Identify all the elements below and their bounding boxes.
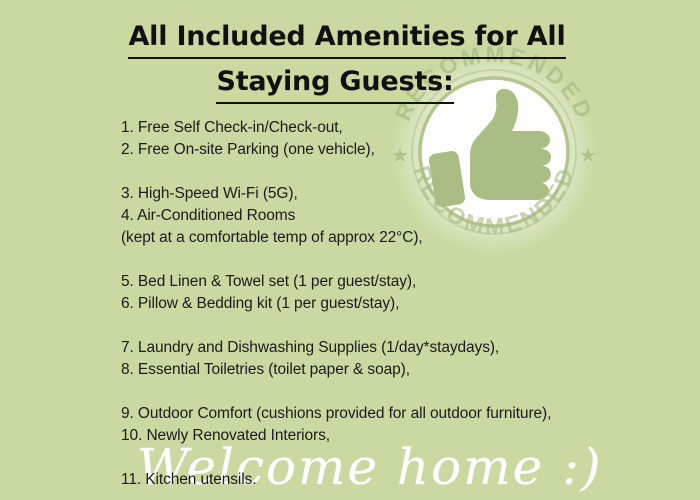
- page-title-line-2: Staying Guests:: [216, 63, 453, 104]
- amenity-line: 10. Newly Renovated Interiors,: [121, 425, 551, 447]
- amenity-line: 6. Pillow & Bedding kit (1 per guest/sta…: [121, 293, 551, 315]
- page-title-line-1: All Included Amenities for All: [128, 18, 565, 59]
- amenities-poster: RECOMMENDED RECOMMENDED ★ ★ All Included…: [0, 0, 700, 500]
- amenity-line: 5. Bed Linen & Towel set (1 per guest/st…: [121, 271, 551, 293]
- amenity-line: 7. Laundry and Dishwashing Supplies (1/d…: [121, 337, 551, 359]
- amenity-line: 3. High-Speed Wi-Fi (5G),: [121, 183, 551, 205]
- amenity-line: 11. Kitchen utensils.: [121, 469, 551, 491]
- badge-star-right-icon: ★: [579, 145, 597, 167]
- amenity-line: 8. Essential Toiletries (toilet paper & …: [121, 359, 551, 381]
- amenities-list: 1. Free Self Check-in/Check-out,2. Free …: [121, 117, 551, 491]
- page-title: All Included Amenities for All Staying G…: [0, 18, 700, 104]
- amenity-line: 2. Free On-site Parking (one vehicle),: [121, 139, 551, 161]
- amenity-line: (kept at a comfortable temp of approx 22…: [121, 227, 551, 249]
- amenity-line: 9. Outdoor Comfort (cushions provided fo…: [121, 403, 551, 425]
- amenity-line: 4. Air-Conditioned Rooms: [121, 205, 551, 227]
- amenity-line: 1. Free Self Check-in/Check-out,: [121, 117, 551, 139]
